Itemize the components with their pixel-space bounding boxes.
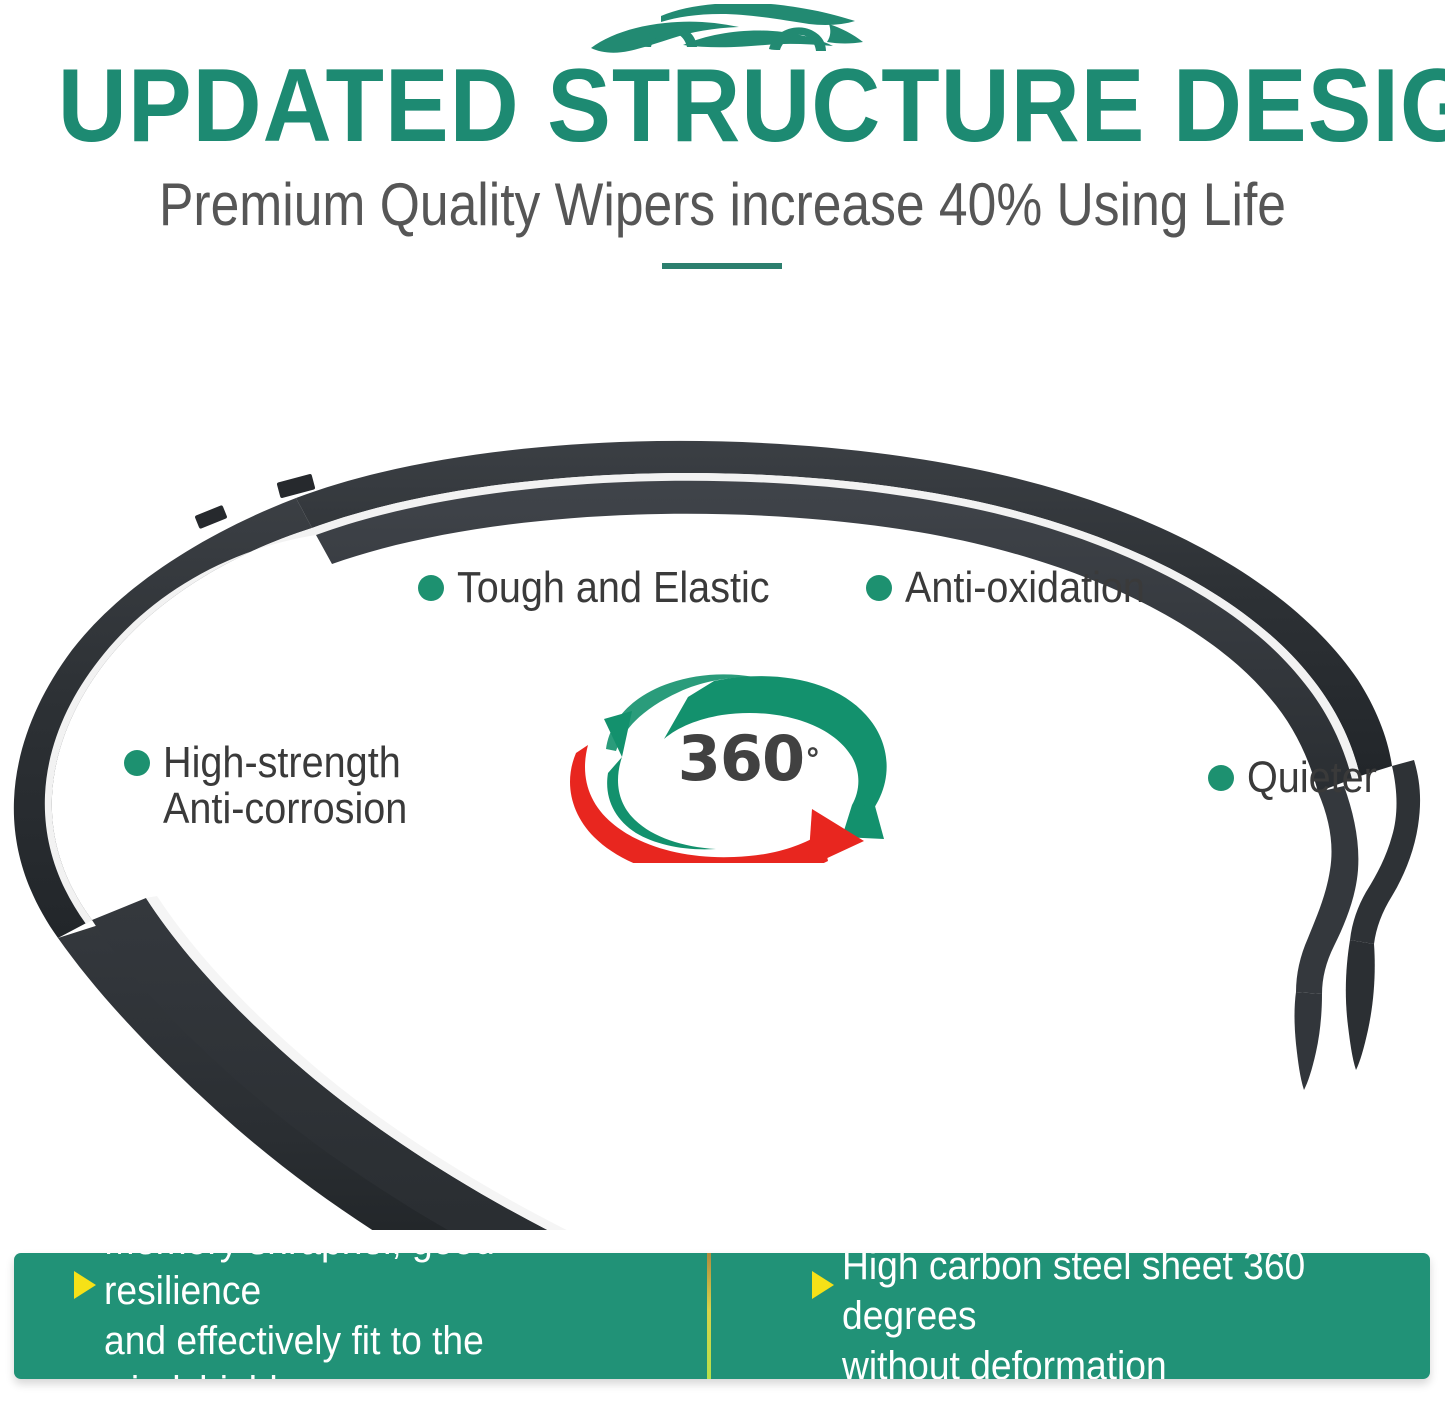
- feature-label: Tough and Elastic: [457, 565, 770, 611]
- triangle-bullet-icon: [74, 1271, 96, 1299]
- triangle-bullet-icon: [812, 1271, 834, 1299]
- bullet-dot-icon: [418, 575, 444, 601]
- banner-item-high-carbon-steel: High carbon steel sheet 360 degrees with…: [722, 1253, 1430, 1379]
- feature-label: Anti-oxidation: [905, 565, 1145, 611]
- feature-callout-tough-elastic: Tough and Elastic: [418, 565, 804, 611]
- banner-item-memory-shrapnel: Memory shrapnel, good resilience and eff…: [14, 1253, 722, 1379]
- rotation-360-badge: 360°: [566, 653, 916, 863]
- feature-callout-high-strength: High-strength Anti-corrosion: [124, 740, 434, 832]
- strip-right-taper: [1295, 760, 1421, 1090]
- banner-item-line1: High carbon steel sheet 360 degrees: [842, 1253, 1305, 1338]
- feature-callout-quieter: Quieter: [1208, 755, 1391, 801]
- page-title: UPDATED STRUCTURE DESIGN: [58, 54, 1387, 158]
- badge-360-value: 360: [678, 722, 804, 795]
- banner-item-line2: and effectively fit to the windshield: [104, 1316, 662, 1379]
- feature-label: High-strength Anti-corrosion: [163, 740, 407, 832]
- banner-item-text: High carbon steel sheet 360 degrees with…: [842, 1253, 1372, 1379]
- degree-symbol: °: [805, 743, 819, 778]
- feature-label: Quieter: [1247, 755, 1377, 801]
- feature-label-line2: Anti-corrosion: [163, 786, 407, 832]
- feature-label-line1: High-strength: [163, 738, 401, 787]
- bullet-dot-icon: [866, 575, 892, 601]
- banner-item-text: Memory shrapnel, good resilience and eff…: [104, 1253, 662, 1379]
- bullet-dot-icon: [1208, 765, 1234, 791]
- feature-callout-anti-oxidation: Anti-oxidation: [866, 565, 1172, 611]
- badge-360-label: 360°: [566, 653, 916, 863]
- title-underline-accent: [662, 263, 782, 269]
- banner-item-line2: without deformation: [842, 1341, 1372, 1379]
- bullet-dot-icon: [124, 750, 150, 776]
- bottom-feature-banner: Memory shrapnel, good resilience and eff…: [14, 1253, 1430, 1379]
- banner-item-line1: Memory shrapnel, good resilience: [104, 1253, 495, 1313]
- product-feature-graphic: UPDATED STRUCTURE DESIGN Premium Quality…: [0, 0, 1445, 1421]
- banner-divider: [707, 1253, 711, 1379]
- page-subtitle: Premium Quality Wipers increase 40% Usin…: [101, 170, 1344, 240]
